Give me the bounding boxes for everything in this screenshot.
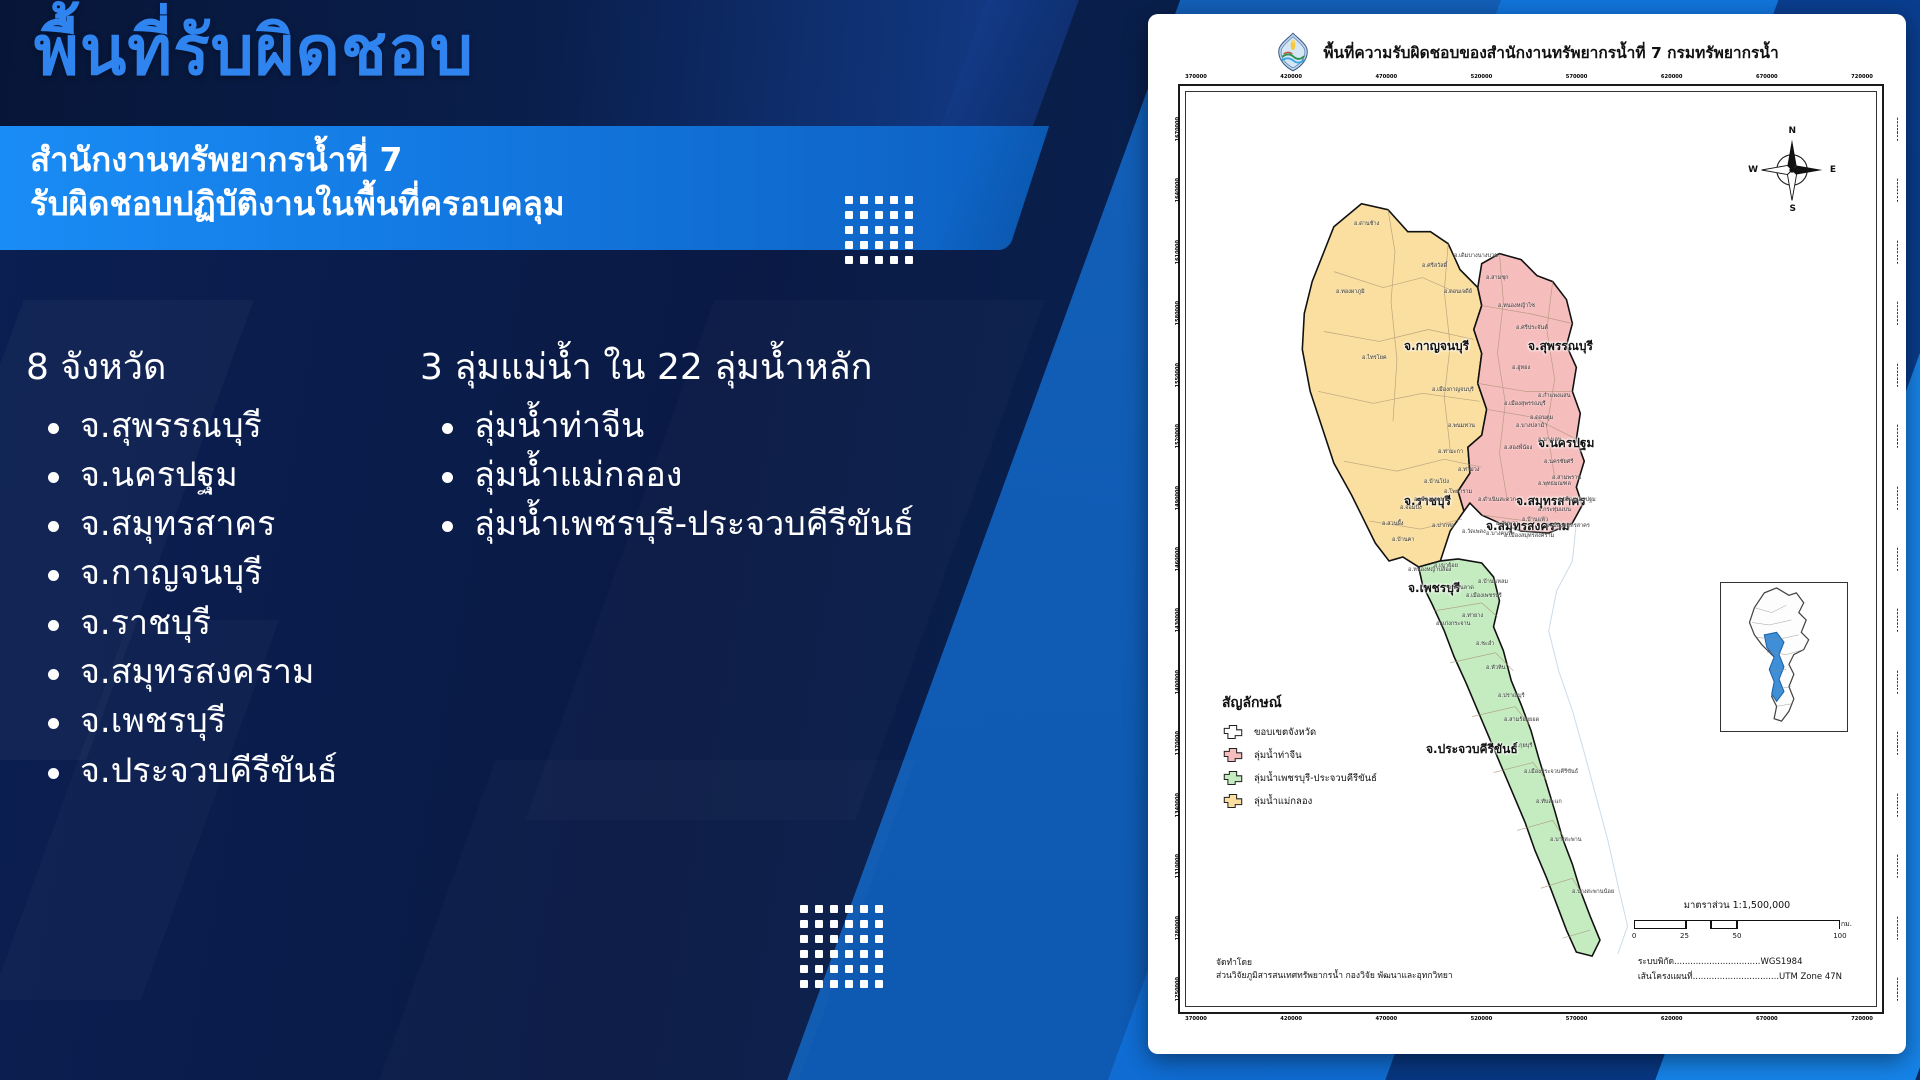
scale-tick-labels: 0 25 50 100: [1632, 932, 1842, 944]
provinces-list: จ.สุพรรณบุรีจ.นครปฐมจ.สมุทรสาครจ.กาญจนบุ…: [26, 402, 338, 796]
dot: [890, 256, 898, 264]
dot: [860, 241, 868, 249]
dot: [905, 196, 913, 204]
map-title: พื้นที่ความรับผิดชอบของสำนักงานทรัพยากรน…: [1323, 40, 1778, 65]
map-district-label: อ.แก่งกระจาน: [1436, 620, 1471, 628]
basins-heading: 3 ลุ่มแม่น้ำ ใน 22 ลุ่มน้ำหลัก: [420, 348, 914, 388]
map-province-label-suphanburi: จ.สุพรรณบุรี: [1528, 337, 1593, 356]
dot: [800, 965, 808, 973]
map-district-label: อ.ศรีสวัสดิ์: [1422, 262, 1447, 270]
map-y-tick-label: 1520000: [1897, 424, 1898, 448]
dot: [860, 256, 868, 264]
map-y-tick-label: 1340000: [1175, 793, 1181, 817]
map-district-label: อ.กำแพงแสน: [1538, 392, 1571, 400]
map-district-label: อ.นครชัยศรี: [1544, 458, 1573, 466]
dot: [830, 965, 838, 973]
map-district-label: อ.หนองหญ้าไซ: [1498, 302, 1535, 310]
map-x-tick-label: 420000: [1280, 74, 1302, 80]
map-district-label: อ.เมืองกาญจนบุรี: [1432, 386, 1474, 394]
scale-tick-0: 0: [1632, 932, 1636, 940]
dot: [860, 965, 868, 973]
list-item: จ.ประจวบคีรีขันธ์: [26, 747, 338, 796]
legend-swatch: [1222, 793, 1244, 809]
map-x-tick-label: 620000: [1661, 1016, 1683, 1022]
map-district-label: อ.บ้านคา: [1392, 536, 1415, 544]
dot-grid-decoration-top: [845, 196, 913, 264]
map-x-tick-label: 520000: [1471, 74, 1493, 80]
map-y-tick-label: 1490000: [1175, 486, 1181, 510]
dot: [860, 196, 868, 204]
map-header: พื้นที่ความรับผิดชอบของสำนักงานทรัพยากรน…: [1156, 28, 1898, 76]
map-district-label: อ.บ้านแหลม: [1478, 578, 1508, 586]
map-x-tick-label: 720000: [1851, 74, 1873, 80]
dot: [800, 980, 808, 988]
dot: [815, 905, 823, 913]
map-district-label: อ.ศรีประจันต์: [1516, 324, 1548, 332]
dot: [875, 905, 883, 913]
map-district-label: อ.ดอนเจดีย์: [1444, 288, 1472, 296]
dot: [800, 935, 808, 943]
legend-row: ลุ่มน้ำท่าจีน: [1222, 747, 1377, 763]
list-item: จ.สมุทรสาคร: [26, 500, 338, 549]
dot: [815, 920, 823, 928]
map-district-label: อ.บางสะพาน: [1550, 836, 1582, 844]
map-credits: จัดทำโดย ส่วนวิจัยภูมิสารสนเทศทรัพยากรน้…: [1216, 957, 1453, 984]
dot: [845, 950, 853, 958]
map-district-label: อ.เมืองประจวบคีรีขันธ์: [1524, 768, 1578, 776]
map-district-label: อ.ด่านช้าง: [1354, 220, 1379, 228]
map-district-label: อ.ปราณบุรี: [1498, 692, 1525, 700]
map-district-label: อ.เมืองนครปฐม: [1558, 496, 1596, 504]
map-x-tick-label: 620000: [1661, 74, 1683, 80]
dot: [845, 196, 853, 204]
map-district-label: อ.บ้านลาด: [1448, 584, 1474, 592]
map-x-tick-label: 670000: [1756, 1016, 1778, 1022]
scale-unit: กม.: [1841, 919, 1852, 930]
list-item: ลุ่มน้ำแม่กลอง: [420, 451, 914, 500]
map-y-tick-label: 1370000: [1897, 731, 1898, 755]
map-x-tick-label: 370000: [1185, 1016, 1207, 1022]
map-district-label: อ.ทองผาภูมิ: [1336, 288, 1365, 296]
map-district-label: อ.เมืองเพชรบุรี: [1466, 592, 1502, 600]
map-province-label-kanchanaburi: จ.กาญจนบุรี: [1404, 337, 1469, 356]
map-district-label: อ.เมืองสมุทรสงคราม: [1504, 532, 1554, 540]
dot: [815, 980, 823, 988]
map-province-label-prachuap: จ.ประจวบคีรีขันธ์: [1426, 740, 1518, 759]
list-item: จ.นครปฐม: [26, 451, 338, 500]
list-item: ลุ่มน้ำเพชรบุรี-ประจวบคีรีขันธ์: [420, 500, 914, 549]
legend-swatch: [1222, 747, 1244, 763]
dot: [860, 226, 868, 234]
map-x-tick-label: 470000: [1375, 1016, 1397, 1022]
credits-label: จัดทำโดย: [1216, 957, 1453, 971]
datum-coord-value: WGS1984: [1760, 957, 1802, 967]
map-x-tick-label: 470000: [1375, 74, 1397, 80]
map-x-tick-label: 570000: [1566, 74, 1588, 80]
datum-coord-dots: ................................: [1674, 957, 1760, 967]
dot: [860, 980, 868, 988]
dot: [890, 211, 898, 219]
legend-label: ลุ่มน้ำเพชรบุรี-ประจวบคีรีขันธ์: [1254, 771, 1377, 786]
map-district-label: อ.บางสะพานน้อย: [1572, 888, 1614, 896]
page-subtitle-line1: สำนักงานทรัพยากรน้ำที่ 7: [30, 138, 565, 182]
dot: [905, 226, 913, 234]
map-x-tick-label: 720000: [1851, 1016, 1873, 1022]
dot: [860, 211, 868, 219]
map-y-tick-label: 1460000: [1175, 547, 1181, 571]
dot: [845, 935, 853, 943]
map-district-label: อ.อู่ทอง: [1512, 364, 1530, 372]
page-subtitle-line2: รับผิดชอบปฏิบัติงานในพื้นที่ครอบคลุม: [30, 182, 565, 226]
dot: [875, 241, 883, 249]
dot: [875, 920, 883, 928]
map-district-label: อ.สองพี่น้อง: [1504, 444, 1532, 452]
dot: [800, 920, 808, 928]
basins-list: ลุ่มน้ำท่าจีนลุ่มน้ำแม่กลองลุ่มน้ำเพชรบุ…: [420, 402, 914, 550]
map-district-label: อ.ไทรโยค: [1362, 354, 1387, 362]
legend-title: สัญลักษณ์: [1222, 692, 1377, 714]
map-district-label: อ.บ้านแพ้ว: [1522, 516, 1548, 524]
map-district-label: อ.เมืองสุพรรณบุรี: [1504, 400, 1546, 408]
dot: [830, 950, 838, 958]
map-frame: N S W E จ.กาญจนบุรี จ.สุพรรณบุรี จ.นครปฐ…: [1178, 84, 1884, 1014]
map-district-label: อ.ท่าม่วง: [1458, 466, 1480, 474]
map-district-label: อ.สามร้อยยอด: [1504, 716, 1539, 724]
map-district-label: อ.หัวหิน: [1486, 664, 1505, 672]
map-inner: พื้นที่ความรับผิดชอบของสำนักงานทรัพยากรน…: [1156, 22, 1898, 1046]
dot: [830, 935, 838, 943]
map-x-tick-label: 370000: [1185, 74, 1207, 80]
dot: [875, 935, 883, 943]
compass-label-south: S: [1790, 204, 1796, 214]
legend-swatch: [1222, 724, 1244, 740]
map-district-label: อ.สามชุก: [1486, 274, 1509, 282]
map-y-tick-label: 1310000: [1897, 854, 1898, 878]
compass-label-west: W: [1748, 165, 1758, 175]
dot: [800, 950, 808, 958]
dot: [905, 256, 913, 264]
map-district-label: อ.หนองหญ้าปล้อง: [1408, 566, 1451, 574]
datum-coord-label: ระบบพิกัด: [1638, 957, 1674, 967]
map-y-tick-label: 1670000: [1897, 117, 1898, 141]
map-y-tick-label: 1460000: [1897, 547, 1898, 571]
scale-tick-25: 25: [1680, 932, 1689, 940]
map-datum-info: ระบบพิกัด...............................…: [1638, 955, 1842, 984]
dot: [860, 935, 868, 943]
legend-row: ขอบเขตจังหวัด: [1222, 724, 1377, 740]
inset-thailand-shape: [1721, 583, 1847, 731]
legend-label: ลุ่มน้ำแม่กลอง: [1254, 794, 1312, 809]
map-x-tick-label: 570000: [1566, 1016, 1588, 1022]
map-x-tick-label: 520000: [1471, 1016, 1493, 1022]
map-y-tick-label: 1550000: [1175, 363, 1181, 387]
map-y-tick-label: 1340000: [1897, 793, 1898, 817]
legend-row: ลุ่มน้ำเพชรบุรี-ประจวบคีรีขันธ์: [1222, 770, 1377, 786]
dot: [890, 226, 898, 234]
map-y-tick-label: 1490000: [1897, 486, 1898, 510]
dot: [845, 226, 853, 234]
dot: [875, 211, 883, 219]
department-emblem-icon: [1275, 32, 1311, 72]
scale-title: มาตราส่วน 1:1,500,000: [1632, 898, 1842, 913]
map-district-label: อ.สวนผึ้ง: [1382, 520, 1404, 528]
map-y-tick-label: 1250000: [1897, 977, 1898, 1001]
legend-label: ขอบเขตจังหวัด: [1254, 725, 1316, 740]
scale-tick-50: 50: [1733, 932, 1742, 940]
map-district-label: อ.เมืองราชบุรี: [1414, 496, 1447, 504]
scale-tick-100: 100: [1833, 932, 1846, 940]
list-item: จ.กาญจนบุรี: [26, 549, 338, 598]
map-district-label: อ.ทับสะแก: [1536, 798, 1562, 806]
map-y-tick-label: 1250000: [1175, 977, 1181, 1001]
list-item: ลุ่มน้ำท่าจีน: [420, 402, 914, 451]
map-district-label: อ.กระทุ่มแบน: [1538, 506, 1571, 514]
provinces-heading: 8 จังหวัด: [26, 348, 338, 388]
legend-rows: ขอบเขตจังหวัดลุ่มน้ำท่าจีนลุ่มน้ำเพชรบุร…: [1222, 724, 1377, 809]
map-y-tick-label: 1670000: [1175, 117, 1181, 141]
map-y-tick-label: 1280000: [1897, 916, 1898, 940]
map-district-label: อ.เดิมบางนางบวช: [1454, 252, 1498, 260]
map-y-tick-label: 1400000: [1175, 670, 1181, 694]
map-district-label: อ.ดอนตูม: [1530, 414, 1553, 422]
dot: [845, 241, 853, 249]
map-legend: สัญลักษณ์ ขอบเขตจังหวัดลุ่มน้ำท่าจีนลุ่ม…: [1222, 692, 1377, 816]
dot: [860, 950, 868, 958]
map-y-tick-label: 1430000: [1897, 608, 1898, 632]
map-district-label: อ.ท่ามะกา: [1438, 448, 1463, 456]
dot: [815, 965, 823, 973]
dot: [905, 241, 913, 249]
map-district-label: อ.ปากท่อ: [1432, 522, 1454, 530]
dot: [815, 950, 823, 958]
compass-label-north: N: [1788, 126, 1796, 136]
datum-proj-label: เส้นโครงแผนที่: [1638, 972, 1693, 982]
map-y-tick-label: 1640000: [1175, 178, 1181, 202]
map-y-tick-label: 1370000: [1175, 731, 1181, 755]
dot: [830, 980, 838, 988]
dot: [860, 920, 868, 928]
legend-row: ลุ่มน้ำแม่กลอง: [1222, 793, 1377, 809]
dot: [830, 920, 838, 928]
dot-grid-decoration-bottom: [800, 905, 883, 988]
datum-proj-value: UTM Zone 47N: [1779, 972, 1842, 982]
map-y-tick-label: 1580000: [1175, 301, 1181, 325]
legend-label: ลุ่มน้ำท่าจีน: [1254, 748, 1302, 763]
thailand-region-map[interactable]: [1186, 92, 1876, 1006]
dot: [890, 196, 898, 204]
dot: [845, 920, 853, 928]
map-y-tick-label: 1310000: [1175, 854, 1181, 878]
dot: [890, 241, 898, 249]
map-y-tick-label: 1580000: [1897, 301, 1898, 325]
map-district-label: อ.ดำเนินสะดวก: [1478, 496, 1516, 504]
page-subtitle: สำนักงานทรัพยากรน้ำที่ 7 รับผิดชอบปฏิบัต…: [30, 138, 565, 225]
dot: [815, 935, 823, 943]
map-y-tick-label: 1430000: [1175, 608, 1181, 632]
map-x-tick-label: 670000: [1756, 74, 1778, 80]
dot: [845, 211, 853, 219]
dot: [845, 905, 853, 913]
legend-swatch: [1222, 770, 1244, 786]
list-item: จ.สมุทรสงคราม: [26, 648, 338, 697]
list-item: จ.เพชรบุรี: [26, 697, 338, 746]
list-item: จ.สุพรรณบุรี: [26, 402, 338, 451]
map-district-label: อ.กุยบุรี: [1514, 742, 1532, 750]
page-title: พื้นที่รับผิดชอบ: [34, 18, 474, 86]
map-district-label: อ.บางปลาม้า: [1516, 422, 1548, 430]
dot: [875, 196, 883, 204]
map-district-label: อ.ท่ายาง: [1462, 612, 1483, 620]
basins-column: 3 ลุ่มแม่น้ำ ใน 22 ลุ่มน้ำหลัก ลุ่มน้ำท่…: [420, 348, 914, 549]
datum-proj-row: เส้นโครงแผนที่..........................…: [1638, 970, 1842, 984]
dot: [845, 256, 853, 264]
scale-bar: กม.: [1634, 920, 1840, 931]
map-y-tick-label: 1610000: [1897, 240, 1898, 264]
dot: [875, 950, 883, 958]
map-frame-inner: N S W E จ.กาญจนบุรี จ.สุพรรณบุรี จ.นครปฐ…: [1185, 91, 1877, 1007]
credits-org: ส่วนวิจัยภูมิสารสนเทศทรัพยากรน้ำ กองวิจั…: [1216, 970, 1453, 984]
provinces-column: 8 จังหวัด จ.สุพรรณบุรีจ.นครปฐมจ.สมุทรสาค…: [26, 348, 338, 796]
map-y-tick-label: 1640000: [1897, 178, 1898, 202]
map-district-label: อ.อัมพวา: [1496, 520, 1518, 528]
map-district-label: อ.โพธาราม: [1444, 488, 1472, 496]
dot: [830, 905, 838, 913]
map-district-label: อ.วัดเพลง: [1462, 528, 1486, 536]
map-x-tick-label: 420000: [1280, 1016, 1302, 1022]
dot: [905, 211, 913, 219]
dot: [860, 905, 868, 913]
slide-root: พื้นที่รับผิดชอบ สำนักงานทรัพยากรน้ำที่ …: [0, 0, 1920, 1080]
map-y-tick-label: 1610000: [1175, 240, 1181, 264]
dot: [875, 980, 883, 988]
map-district-label: อ.จอมบึง: [1400, 504, 1422, 512]
dot: [875, 965, 883, 973]
map-inset-thailand: [1720, 582, 1848, 732]
dot: [800, 905, 808, 913]
map-y-tick-label: 1280000: [1175, 916, 1181, 940]
map-scale-block: มาตราส่วน 1:1,500,000 กม. 0 25 50: [1632, 898, 1842, 944]
compass-label-east: E: [1830, 165, 1836, 175]
map-district-label: อ.บ้านโป่ง: [1424, 478, 1449, 486]
dot: [875, 226, 883, 234]
map-y-tick-label: 1550000: [1897, 363, 1898, 387]
map-district-label: อ.พนมทวน: [1448, 422, 1475, 430]
map-y-tick-label: 1520000: [1175, 424, 1181, 448]
map-district-label: อ.พุทธมณฑล: [1538, 480, 1571, 488]
compass-rose-icon: [1754, 132, 1830, 208]
map-district-label: อ.บางเลน: [1538, 436, 1562, 444]
datum-coord-row: ระบบพิกัด...............................…: [1638, 955, 1842, 969]
list-item: จ.ราชบุรี: [26, 599, 338, 648]
dot: [845, 965, 853, 973]
dot: [845, 980, 853, 988]
map-y-tick-label: 1400000: [1897, 670, 1898, 694]
datum-proj-dots: ................................: [1693, 972, 1779, 982]
map-district-label: อ.ชะอำ: [1476, 640, 1494, 648]
dot: [875, 256, 883, 264]
map-district-label: อ.เมืองสมุทรสาคร: [1546, 522, 1590, 530]
map-panel[interactable]: พื้นที่ความรับผิดชอบของสำนักงานทรัพยากรน…: [1148, 14, 1906, 1054]
